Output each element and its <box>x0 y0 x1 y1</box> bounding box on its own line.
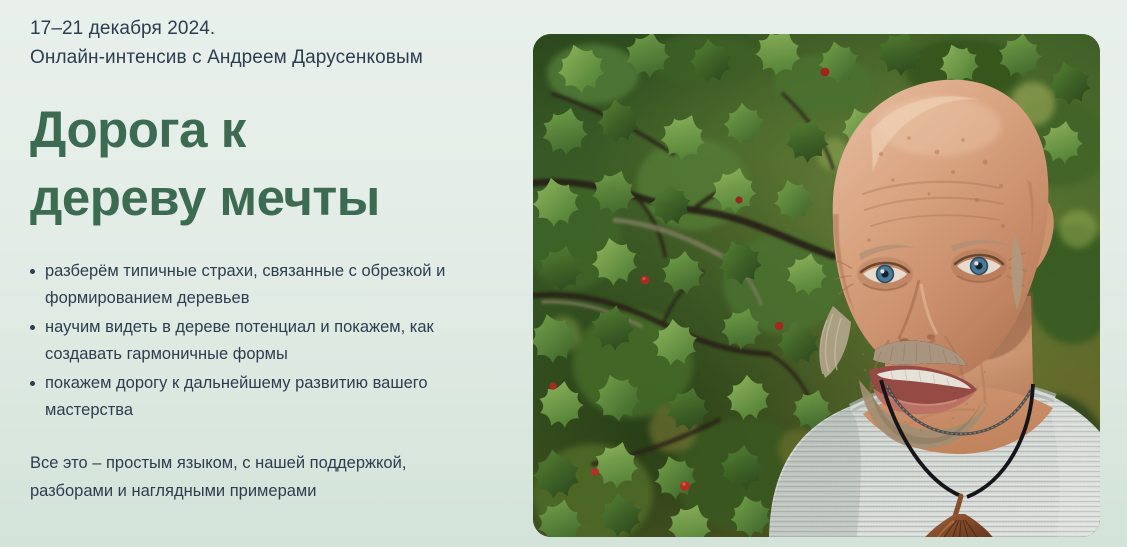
instructor-photo <box>533 34 1100 537</box>
page-title-line-1: Дорога к <box>30 96 520 164</box>
page-title-line-2: дереву мечты <box>30 164 520 232</box>
list-item: разберём типичные страхи, связанные с об… <box>30 258 500 312</box>
event-dates-and-format: 17–21 декабря 2024. Онлайн-интенсив с Ан… <box>30 14 520 72</box>
event-dates: 17–21 декабря 2024. <box>30 14 520 43</box>
text-column: 17–21 декабря 2024. Онлайн-интенсив с Ан… <box>30 14 520 505</box>
list-item: покажем дорогу к дальнейшему развитию ва… <box>30 370 500 424</box>
instructor-photo-image <box>533 34 1100 537</box>
event-format-and-host: Онлайн-интенсив с Андреем Дарусенковым <box>30 43 520 72</box>
closing-note-line-1: Все это – простым языком, с нашей поддер… <box>30 449 500 477</box>
promo-banner: 17–21 декабря 2024. Онлайн-интенсив с Ан… <box>0 0 1127 547</box>
page-title: Дорога к дереву мечты <box>30 96 520 232</box>
closing-note: Все это – простым языком, с нашей поддер… <box>30 449 500 505</box>
closing-note-line-2: разборами и наглядными примерами <box>30 477 500 505</box>
list-item: научим видеть в дереве потенциал и покаж… <box>30 314 500 368</box>
benefits-list: разберём типичные страхи, связанные с об… <box>30 258 520 424</box>
